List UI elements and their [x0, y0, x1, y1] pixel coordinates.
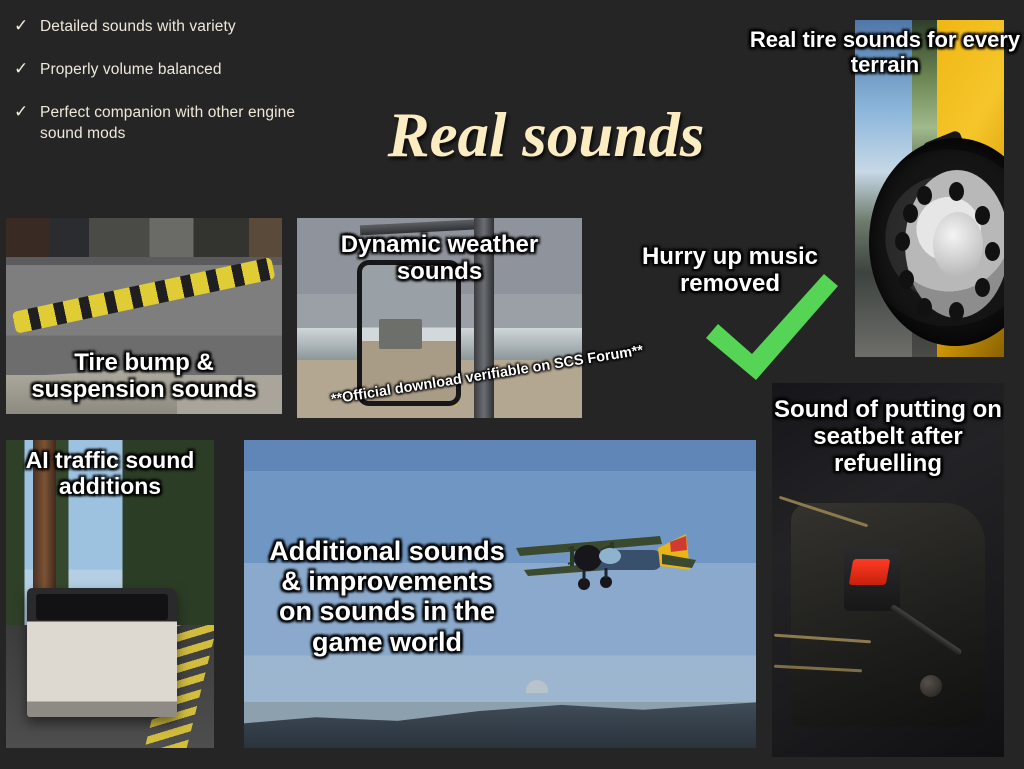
feature-list: ✓ Detailed sounds with variety ✓ Properl…: [14, 16, 324, 166]
caption-additional-sounds: Additional sounds & improvements on soun…: [262, 536, 512, 657]
caption-seatbelt-sound: Sound of putting on seatbelt after refue…: [772, 397, 1004, 478]
caption-tire-bump: Tire bump & suspension sounds: [6, 350, 282, 404]
check-mark-icon: ✓: [14, 59, 40, 79]
panel-additional-sounds: Additional sounds & improvements on soun…: [244, 440, 756, 748]
feature-text: Properly volume balanced: [40, 59, 222, 80]
feature-text: Detailed sounds with variety: [40, 16, 236, 37]
caption-dynamic-weather: Dynamic weather sounds: [297, 232, 582, 286]
biplane-icon: [510, 514, 710, 594]
check-mark-icon: ✓: [14, 16, 40, 36]
list-item: ✓ Detailed sounds with variety: [14, 16, 324, 37]
check-mark-icon: ✓: [14, 102, 40, 122]
panel-ai-traffic: AI traffic sound additions: [6, 440, 214, 748]
panel-seatbelt-sound: Sound of putting on seatbelt after refue…: [772, 383, 1004, 757]
green-check-mark-icon: [698, 268, 846, 386]
list-item: ✓ Properly volume balanced: [14, 59, 324, 80]
panel-tire-bump: Tire bump & suspension sounds: [6, 218, 282, 414]
caption-ai-traffic: AI traffic sound additions: [6, 448, 214, 500]
caption-real-tire-sounds: Real tire sounds for every terrain: [740, 28, 1024, 77]
page-title: Real sounds: [336, 100, 756, 170]
list-item: ✓ Perfect companion with other engine so…: [14, 102, 324, 144]
poster-canvas: ✓ Detailed sounds with variety ✓ Properl…: [0, 0, 1024, 769]
feature-text: Perfect companion with other engine soun…: [40, 102, 324, 144]
